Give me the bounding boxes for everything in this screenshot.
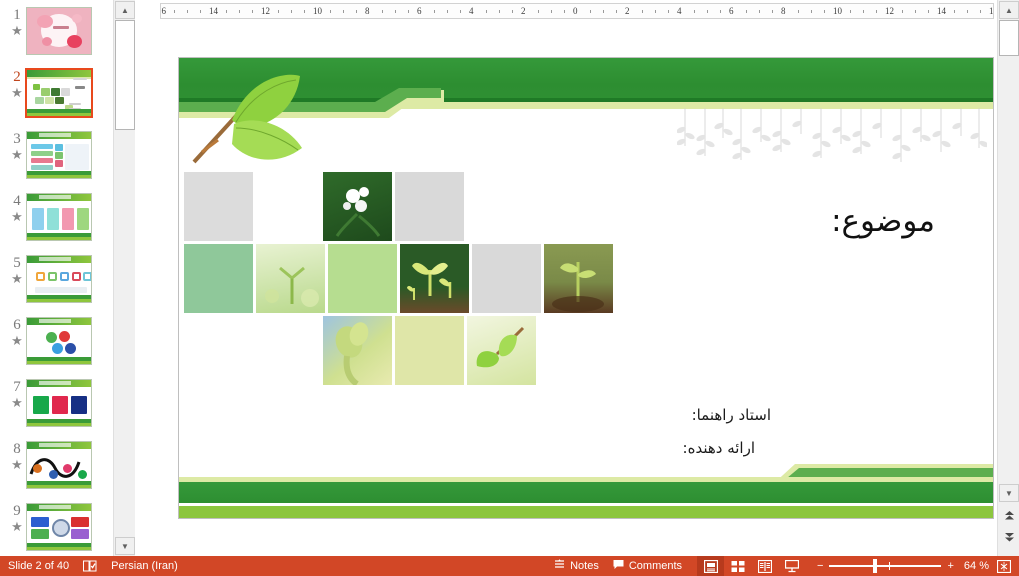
slide-view-scrollbar[interactable]: ▲ ▼	[997, 0, 1019, 556]
mini-hex	[83, 272, 92, 281]
mini-hex	[36, 272, 45, 281]
thumbnail-preview[interactable]	[26, 255, 92, 303]
normal-view-button[interactable]	[697, 556, 724, 576]
mini-slide-hexagons	[27, 256, 91, 302]
animation-star-icon: ★	[6, 520, 28, 533]
slide-counter[interactable]: Slide 2 of 40	[0, 556, 76, 576]
mini-bottom-stripe	[27, 547, 91, 550]
thumbnail-number: 5	[6, 256, 28, 271]
zoom-slider-track	[829, 565, 941, 567]
ruler-minor-tick	[655, 10, 656, 13]
ruler-minor-tick	[486, 10, 487, 13]
ruler-minor-tick	[239, 10, 240, 13]
ruler-tick-label: 8	[365, 6, 370, 16]
photo-swatch-yellow-pale[interactable]	[395, 316, 464, 385]
mini-bottom-stripe	[27, 423, 91, 426]
mini-flower	[67, 35, 82, 48]
mini-icon	[55, 160, 63, 167]
ruler-tick-label: 4	[469, 6, 474, 16]
ruler-minor-tick	[447, 10, 448, 13]
animation-star-icon: ★	[6, 148, 28, 161]
photo-twin-leaves[interactable]	[467, 316, 536, 385]
ruler-minor-tick	[564, 10, 565, 13]
scroll-down-icon[interactable]: ▼	[999, 484, 1019, 502]
mini-leaf	[33, 84, 40, 90]
mini-card	[77, 208, 89, 230]
comments-label: Comments	[629, 560, 682, 572]
comment-icon	[613, 559, 624, 573]
ruler-tick-label: 14	[209, 6, 218, 16]
ruler-minor-tick	[200, 10, 201, 13]
thumbnail-slide-7[interactable]: 7 ★	[0, 378, 113, 440]
mini-flower	[72, 14, 82, 23]
mini-dot	[33, 464, 42, 473]
mini-top-bar	[27, 70, 91, 77]
next-slide-button[interactable]	[999, 528, 1019, 546]
mini-card	[32, 208, 44, 230]
ruler-tick-label: 0	[573, 6, 578, 16]
animation-star-icon: ★	[6, 272, 28, 285]
ruler-tick-label: 2	[521, 6, 526, 16]
mini-title	[39, 381, 71, 385]
notes-button[interactable]: Notes	[547, 556, 606, 576]
thumbnail-preview[interactable]	[26, 379, 92, 427]
slide-title-text[interactable]: موضوع:	[831, 203, 935, 239]
ruler-tick-label: 8	[781, 6, 786, 16]
thumbnail-number: 1	[6, 8, 28, 23]
mini-hex	[72, 272, 81, 281]
ruler-minor-tick	[616, 10, 617, 13]
notes-icon	[554, 559, 565, 573]
ruler-minor-tick	[928, 10, 929, 13]
thumbnail-preview[interactable]	[26, 7, 92, 55]
mini-script	[53, 26, 69, 29]
ruler-minor-tick	[278, 10, 279, 13]
ruler-tick-label: 6	[417, 6, 422, 16]
scrollbar-thumb[interactable]	[999, 20, 1019, 56]
mini-title	[39, 319, 71, 323]
mini-slide-cards	[27, 194, 91, 240]
ruler-minor-tick	[642, 10, 643, 13]
slide-editing-surface[interactable]: موضوع: استاد راهنما: ارائه دهنده:	[178, 57, 994, 519]
mini-row	[31, 151, 53, 156]
thumbnail-slide-5[interactable]: 5 ★	[0, 254, 113, 316]
ruler-minor-tick	[187, 10, 188, 13]
mini-photo	[55, 97, 64, 104]
ruler-minor-tick	[694, 10, 695, 13]
scroll-down-icon[interactable]: ▼	[115, 537, 135, 555]
mini-photo	[41, 88, 50, 96]
zoom-slider[interactable]	[829, 556, 941, 576]
photo-placeholder-grey-top[interactable]	[395, 172, 464, 241]
mini-block	[33, 396, 49, 414]
ruler-tick-label: 10	[313, 6, 322, 16]
mini-caption	[35, 287, 87, 293]
photo-sprout-in-soil[interactable]	[544, 244, 613, 313]
ruler-minor-tick	[382, 10, 383, 13]
photo-swatch-green-mid[interactable]	[184, 244, 253, 313]
photo-white-blossom[interactable]	[323, 172, 392, 241]
animation-star-icon: ★	[6, 24, 28, 37]
mini-text	[75, 86, 85, 89]
notes-label: Notes	[570, 560, 599, 572]
ruler-tick-label: 6	[729, 6, 734, 16]
supervisor-label-text[interactable]: استاد راهنما:	[692, 406, 771, 424]
mini-icon	[55, 152, 63, 159]
mini-title	[39, 133, 71, 137]
mini-bottom-stripe	[27, 485, 91, 488]
thumbnail-number: 9	[6, 504, 28, 519]
bottom-green-banner	[179, 482, 993, 504]
animation-star-icon: ★	[6, 458, 28, 471]
thumbnail-number: 7	[6, 380, 28, 395]
ruler-minor-tick	[395, 10, 396, 13]
ruler-minor-tick	[850, 10, 851, 13]
mini-block	[52, 396, 68, 414]
mini-text-block	[65, 144, 89, 170]
mini-hex	[60, 272, 69, 281]
mini-gear	[52, 343, 63, 354]
thumbnail-preview[interactable]	[26, 503, 92, 551]
photo-bud-closeup[interactable]	[323, 316, 392, 385]
mini-gear	[59, 331, 70, 342]
mini-dot	[49, 470, 58, 479]
thumbnail-slide-1[interactable]: 1 ★	[0, 6, 113, 68]
photo-seedlings-soil[interactable]	[400, 244, 469, 313]
mini-hex	[48, 272, 57, 281]
mini-bottom-stripe	[27, 361, 91, 364]
hanging-vine-decoration	[677, 108, 987, 168]
mini-slide-list	[27, 132, 91, 178]
thumbnail-slide-2[interactable]: 2 ★	[0, 68, 113, 130]
thumbnail-slide-6[interactable]: 6 ★	[0, 316, 113, 378]
thumbnail-number: 8	[6, 442, 28, 457]
mini-title	[39, 443, 71, 447]
mini-gear	[46, 332, 57, 343]
mini-block	[71, 396, 87, 414]
thumbnail-number: 3	[6, 132, 28, 147]
slide-show-view-button[interactable]	[778, 556, 805, 576]
zoom-slider-midpoint	[889, 562, 890, 570]
ruler-minor-tick	[499, 10, 500, 13]
ruler-tick-label: 16	[160, 6, 166, 16]
ruler-tick-label: 16	[989, 6, 994, 16]
ruler-minor-tick	[434, 10, 435, 13]
ruler-minor-tick	[967, 10, 968, 13]
mini-title	[39, 257, 71, 261]
mini-title	[39, 195, 71, 199]
ruler-minor-tick	[551, 10, 552, 13]
zoom-level-label[interactable]: 64 %	[960, 556, 993, 576]
mini-slide-title	[27, 70, 91, 116]
photo-branch-with-leaves[interactable]	[184, 172, 253, 241]
mini-slide-floral	[27, 8, 91, 54]
mini-photo	[45, 97, 54, 104]
mini-bottom-stripe	[27, 237, 91, 240]
mini-dot	[78, 470, 87, 479]
mini-quadrant	[31, 529, 49, 539]
mini-quadrant	[71, 517, 89, 527]
ruler-minor-tick	[330, 10, 331, 13]
mini-title	[39, 505, 71, 509]
ruler-minor-tick	[460, 10, 461, 13]
zoom-slider-handle[interactable]	[873, 559, 877, 573]
ruler-tick-label: 12	[885, 6, 894, 16]
ruler-minor-tick	[876, 10, 877, 13]
ruler-minor-tick	[954, 10, 955, 13]
mini-slide-blocks	[27, 380, 91, 426]
mini-text	[69, 103, 81, 105]
thumbnail-slide-9[interactable]: 9 ★	[0, 502, 113, 556]
reading-view-button[interactable]	[751, 556, 778, 576]
zoom-in-button[interactable]: +	[941, 556, 959, 576]
photo-sprout-bokeh[interactable]	[256, 244, 325, 313]
thumbnail-slide-4[interactable]: 4 ★	[0, 192, 113, 254]
mini-card	[47, 208, 59, 230]
mini-row	[31, 144, 53, 149]
ruler-tick-label: 12	[261, 6, 270, 16]
thumbnail-number: 4	[6, 194, 28, 209]
animation-star-icon: ★	[6, 396, 28, 409]
mini-bottom-stripe	[27, 299, 91, 302]
slide-canvas-area[interactable]: موضوع: استاد راهنما: ارائه دهنده:	[136, 22, 995, 556]
ruler-minor-tick	[590, 10, 591, 13]
ruler-minor-tick	[980, 10, 981, 13]
mini-photo	[35, 97, 44, 104]
mini-icon	[55, 144, 63, 151]
ruler-tick-label: 2	[625, 6, 630, 16]
mini-photo	[51, 88, 60, 96]
ruler-minor-tick	[174, 10, 175, 13]
animation-star-icon: ★	[6, 334, 28, 347]
mini-photo	[61, 88, 70, 96]
mini-slide-wave	[27, 442, 91, 488]
ruler-minor-tick	[408, 10, 409, 13]
horizontal-ruler[interactable]: 1614121086420246810121416	[160, 3, 994, 19]
mini-quadrant	[71, 529, 89, 539]
mini-row	[31, 158, 53, 163]
mini-dot	[63, 464, 72, 473]
mini-wheel	[52, 519, 70, 537]
ruler-minor-tick	[759, 10, 760, 13]
previous-slide-button[interactable]	[999, 506, 1019, 524]
ruler-tick-label: 4	[677, 6, 682, 16]
ruler-minor-tick	[603, 10, 604, 13]
ruler-minor-tick	[746, 10, 747, 13]
ruler-minor-tick	[811, 10, 812, 13]
ruler-tick-label: 10	[833, 6, 842, 16]
status-bar[interactable]: Slide 2 of 40 Persian (Iran) Notes Comme…	[0, 556, 1019, 576]
thumbnail-slide-3[interactable]: 3 ★	[0, 130, 113, 192]
ruler-minor-tick	[902, 10, 903, 13]
thumbnail-preview[interactable]	[26, 193, 92, 241]
thumbnail-slide-8[interactable]: 8 ★	[0, 440, 113, 502]
ruler-minor-tick	[291, 10, 292, 13]
ruler-minor-tick	[343, 10, 344, 13]
thumbnail-preview[interactable]	[26, 131, 92, 179]
ruler-minor-tick	[772, 10, 773, 13]
ruler-minor-tick	[226, 10, 227, 13]
comments-button[interactable]: Comments	[606, 556, 689, 576]
mini-text	[73, 78, 87, 80]
ruler-minor-tick	[798, 10, 799, 13]
fit-to-window-button[interactable]	[993, 556, 1019, 576]
mini-card	[62, 208, 74, 230]
decorative-leaf-image	[184, 70, 309, 175]
zoom-out-button[interactable]: −	[811, 556, 829, 576]
mini-quadrant	[31, 517, 49, 527]
bottom-lime-stripe	[179, 506, 993, 518]
ruler-minor-tick	[720, 10, 721, 13]
scrollbar-thumb[interactable]	[115, 20, 135, 130]
scroll-up-icon[interactable]: ▲	[115, 1, 135, 19]
mini-bottom-stripe	[27, 175, 91, 178]
animation-star-icon: ★	[6, 210, 28, 223]
mini-slide-gears	[27, 318, 91, 364]
ruler-minor-tick	[512, 10, 513, 13]
thumbnail-number: 6	[6, 318, 28, 333]
photo-swatch-green-pale[interactable]	[328, 244, 397, 313]
ruler-minor-tick	[863, 10, 864, 13]
language-indicator[interactable]: Persian (Iran)	[104, 556, 185, 576]
thumbnail-preview[interactable]	[25, 68, 93, 118]
ruler-tick-label: 14	[937, 6, 946, 16]
thumbnail-preview[interactable]	[26, 441, 92, 489]
ruler-minor-tick	[824, 10, 825, 13]
mini-row	[31, 165, 53, 170]
ruler-minor-tick	[252, 10, 253, 13]
photo-placeholder-grey-mid[interactable]	[472, 244, 541, 313]
mini-bottom-stripe	[27, 113, 91, 116]
slide-thumbnail-panel[interactable]: 1 ★ 2 ★	[0, 0, 113, 556]
scroll-up-icon[interactable]: ▲	[999, 1, 1019, 19]
mini-gear	[65, 343, 76, 354]
ruler-minor-tick	[915, 10, 916, 13]
mini-flower	[42, 37, 52, 46]
ruler-minor-tick	[707, 10, 708, 13]
thumbnail-preview[interactable]	[26, 317, 92, 365]
thumbnail-panel-scrollbar[interactable]: ▲ ▼	[113, 0, 135, 556]
ruler-minor-tick	[356, 10, 357, 13]
slide-sorter-view-button[interactable]	[724, 556, 751, 576]
ruler-minor-tick	[668, 10, 669, 13]
mini-slide-radial	[27, 504, 91, 550]
spellcheck-icon[interactable]	[76, 556, 104, 576]
ruler-minor-tick	[304, 10, 305, 13]
ruler-minor-tick	[538, 10, 539, 13]
presenter-label-text[interactable]: ارائه دهنده:	[683, 439, 755, 457]
